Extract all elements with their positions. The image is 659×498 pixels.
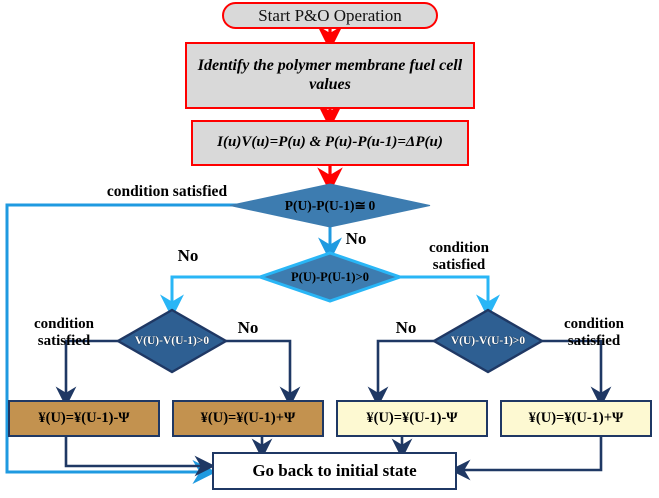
compute-label: I(u)V(u)=P(u) & P(u)-P(u-1)=ΔP(u) — [217, 134, 443, 152]
identify-process-box[interactable]: Identify the polymer membrane fuel cell … — [185, 42, 475, 109]
result-2-label: ¥(U)=¥(U-1)+Ψ — [201, 410, 296, 427]
edge-result1-to-final — [66, 437, 208, 466]
edge-result4-to-final — [457, 437, 601, 470]
result-box-2[interactable]: ¥(U)=¥(U-1)+Ψ — [172, 400, 324, 437]
final-label: Go back to initial state — [252, 461, 416, 481]
edge-label-no-decision2-left: No — [168, 246, 208, 265]
result-1-label: ¥(U)=¥(U-1)-Ψ — [38, 410, 129, 427]
result-3-label: ¥(U)=¥(U-1)-Ψ — [366, 410, 457, 427]
compute-process-box[interactable]: I(u)V(u)=P(u) & P(u)-P(u-1)=ΔP(u) — [191, 120, 469, 166]
decision1-label: P(U)-P(U-1)≅ 0 — [285, 198, 375, 214]
final-box[interactable]: Go back to initial state — [212, 452, 457, 490]
decision3-right[interactable]: V(U)-V(U-1)>0 — [424, 310, 552, 372]
edge-decision2-no-to-decision3-left — [172, 277, 262, 310]
decision2-label: P(U)-P(U-1)>0 — [291, 270, 369, 285]
decision3-left[interactable]: V(U)-V(U-1)>0 — [108, 310, 236, 372]
result-box-4[interactable]: ¥(U)=¥(U-1)+Ψ — [500, 400, 652, 437]
edge-label-condition-satisfied-top: condition satisfied — [72, 183, 262, 200]
result-box-3[interactable]: ¥(U)=¥(U-1)-Ψ — [336, 400, 488, 437]
edge-label-no-decision3-right-left: No — [386, 318, 426, 337]
flowchart-canvas: Start P&O Operation Identify the polymer… — [0, 0, 659, 498]
identify-label: Identify the polymer membrane fuel cell … — [195, 57, 465, 95]
decision3-right-label: V(U)-V(U-1)>0 — [451, 335, 525, 347]
start-label: Start P&O Operation — [258, 6, 402, 26]
edge-decision2-satisfied-to-decision3-right — [398, 277, 488, 310]
edge-label-condition-satisfied-decision2-right: condition satisfied — [400, 240, 518, 274]
edge-label-no-decision3-left-right: No — [228, 318, 268, 337]
edge-label-condition-satisfied-decision3-left: condition satisfied — [8, 316, 120, 350]
decision3-left-label: V(U)-V(U-1)>0 — [135, 335, 209, 347]
edge-label-no-decision1: No — [336, 229, 376, 248]
decision2[interactable]: P(U)-P(U-1)>0 — [260, 253, 400, 301]
edge-label-condition-satisfied-decision3-right: condition satisfied — [538, 316, 650, 350]
start-terminator[interactable]: Start P&O Operation — [222, 2, 438, 29]
result-4-label: ¥(U)=¥(U-1)+Ψ — [529, 410, 624, 427]
result-box-1[interactable]: ¥(U)=¥(U-1)-Ψ — [8, 400, 160, 437]
